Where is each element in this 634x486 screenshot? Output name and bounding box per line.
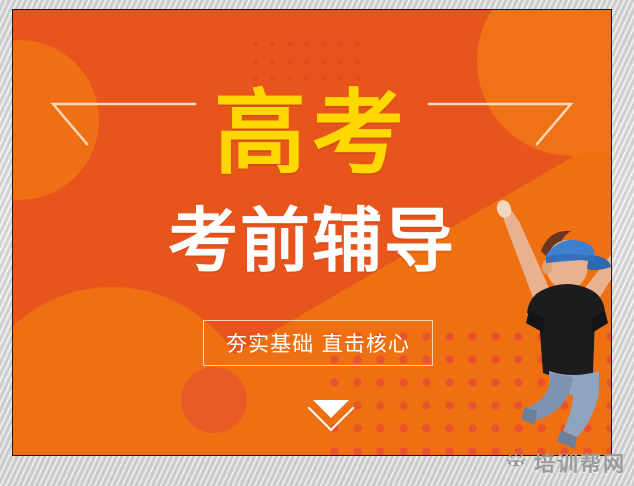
- down-arrow-icon: [303, 398, 359, 434]
- banner-canvas: 高考 考前辅导 夯实基础 直击核心: [13, 10, 611, 455]
- headline-main: 高考: [13, 88, 611, 180]
- tagline-text: 夯实基础 直击核心: [226, 328, 410, 358]
- watermark-text: 培训帮网: [534, 448, 626, 478]
- sun-face-icon: [505, 452, 527, 474]
- watermark: 培训帮网: [505, 448, 626, 478]
- tagline-box: 夯实基础 直击核心: [203, 320, 433, 366]
- banner-image-frame: 高考 考前辅导 夯实基础 直击核心: [12, 9, 612, 456]
- dot-grid-top-icon: [243, 32, 373, 80]
- decor-circle-middle: [181, 367, 247, 433]
- jumping-student-illustration: [483, 185, 611, 455]
